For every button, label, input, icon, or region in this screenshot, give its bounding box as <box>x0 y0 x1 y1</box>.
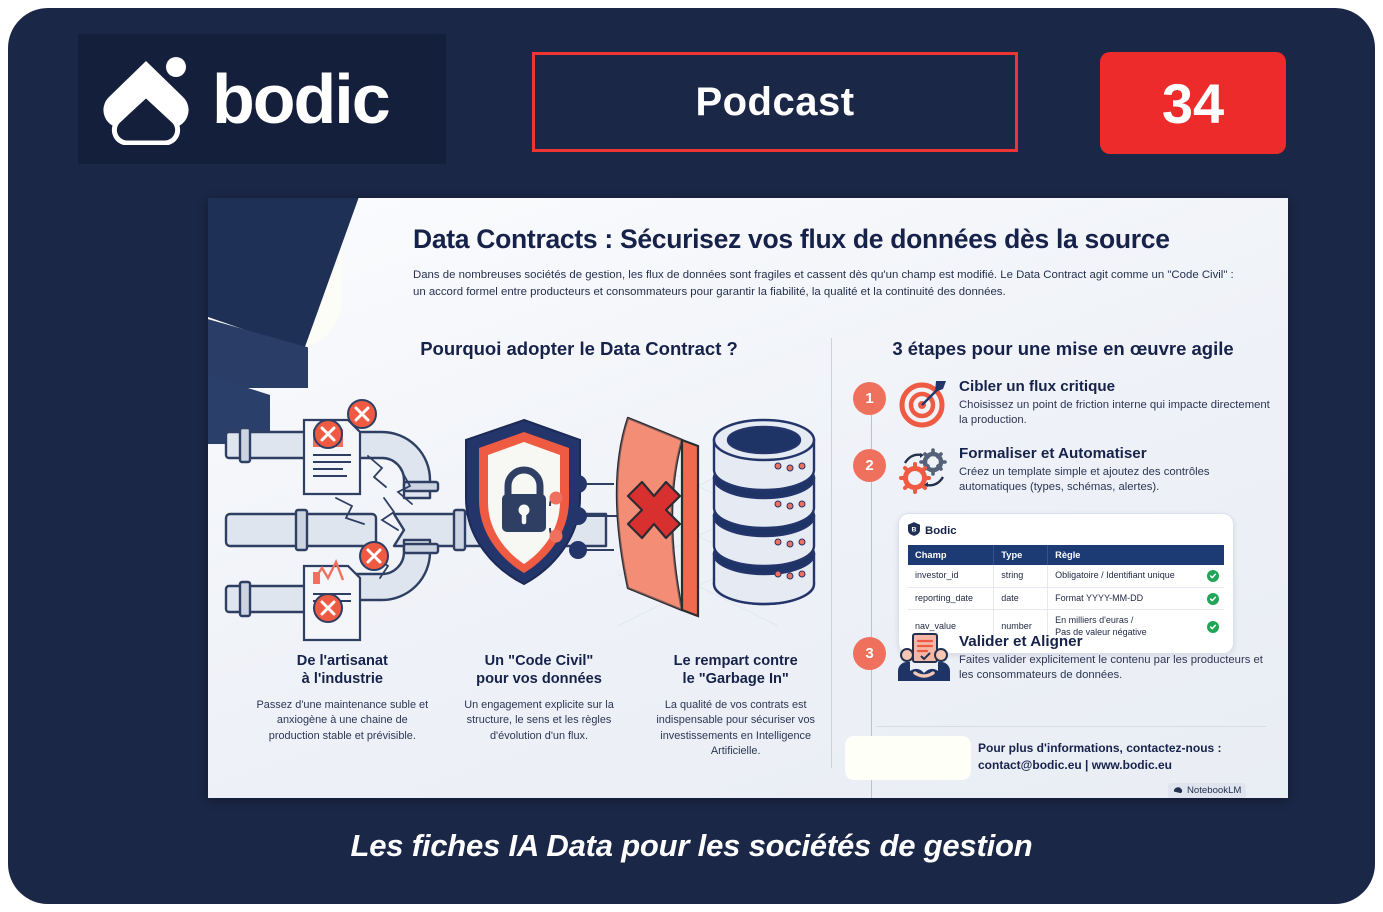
step-text: Valider et Aligner Faites valider explic… <box>953 633 1278 684</box>
benefit-cards: De l'artisanat à l'industrie Passez d'un… <box>248 653 830 760</box>
column-header-type: Type <box>994 545 1048 565</box>
table-row: reporting_date date Format YYYY-MM-DD <box>908 587 1224 610</box>
cell-type: string <box>994 565 1048 587</box>
contract-table: Champ Type Règle investor_id string Obli… <box>908 545 1224 644</box>
cell-regle-text: Format YYYY-MM-DD <box>1055 593 1143 603</box>
contact-block: Pour plus d'informations, contactez-nous… <box>978 740 1278 774</box>
step-text: Formaliser et Automatiser Créez un templ… <box>953 445 1278 496</box>
poster-header: bodic Podcast 34 <box>8 8 1375 188</box>
brand-wordmark: bodic <box>212 64 389 134</box>
cell-champ: reporting_date <box>908 587 994 610</box>
step-body: Choisissez un point de friction interne … <box>959 398 1278 429</box>
target-dart-icon <box>895 378 953 428</box>
column-header-champ: Champ <box>908 545 994 565</box>
page-title: Data Contracts : Sécurisez vos flux de d… <box>413 224 1243 255</box>
column-header-regle: Règle <box>1048 545 1224 565</box>
step-item: 3 <box>848 633 1278 684</box>
benefit-card-title: Le rempart contre le "Garbage In" <box>641 653 830 689</box>
left-column: Pourquoi adopter le Data Contract ? <box>218 338 830 788</box>
step-title: Valider et Aligner <box>959 633 1278 650</box>
gears-automation-icon <box>895 445 953 495</box>
contact-line-2[interactable]: contact@bodic.eu | www.bodic.eu <box>978 757 1278 774</box>
poster-card: bodic Podcast 34 Data Contracts : Sécuri… <box>8 8 1375 904</box>
right-column-heading: 3 étapes pour une mise en œuvre agile <box>848 338 1278 360</box>
step-number: 2 <box>853 449 886 482</box>
left-column-heading: Pourquoi adopter le Data Contract ? <box>218 338 830 360</box>
footer-divider <box>876 726 1266 727</box>
shield-badge-icon: B <box>908 522 920 539</box>
benefit-card-body: La qualité de vos contrats est indispens… <box>641 698 830 760</box>
step-title: Cibler un flux critique <box>959 378 1278 395</box>
cell-regle: Obligatoire / Identifiant unique <box>1048 565 1224 587</box>
step-number: 1 <box>853 382 886 415</box>
step-number-badge: 2 <box>848 445 895 496</box>
column-divider <box>831 338 832 768</box>
cloud-mountain-logo-icon <box>100 53 192 145</box>
step-body: Faites valider explicitement le contenu … <box>959 653 1278 684</box>
podcast-label-chip[interactable]: Podcast <box>532 52 1018 152</box>
episode-number-badge: 34 <box>1100 52 1286 154</box>
cell-regle: Format YYYY-MM-DD <box>1048 587 1224 610</box>
brand-logo-block: bodic <box>78 34 446 164</box>
step-title: Formaliser et Automatiser <box>959 445 1278 462</box>
table-brand: B Bodic <box>908 522 1224 539</box>
benefit-card: De l'artisanat à l'industrie Passez d'un… <box>248 653 437 760</box>
right-column: 3 étapes pour une mise en œuvre agile 1 <box>848 338 1278 788</box>
footer-blank-box <box>845 736 971 780</box>
step-number-badge: 1 <box>848 378 895 429</box>
step-text: Cibler un flux critique Choisissez un po… <box>953 378 1278 429</box>
handshake-document-icon <box>895 633 953 683</box>
step-item: 1 Cibler un flux critique Choisissez un … <box>848 378 1278 429</box>
cell-type: date <box>994 587 1048 610</box>
podcast-label: Podcast <box>695 80 854 125</box>
check-icon <box>1207 593 1219 605</box>
table-row: investor_id string Obligatoire / Identif… <box>908 565 1224 587</box>
infographic-sheet: Data Contracts : Sécurisez vos flux de d… <box>208 198 1288 798</box>
step-number-badge: 3 <box>848 633 895 684</box>
benefit-card-title: De l'artisanat à l'industrie <box>248 653 437 689</box>
svg-text:B: B <box>912 527 917 534</box>
check-icon <box>1207 621 1219 633</box>
benefit-card-body: Passez d'une maintenance suble et anxiog… <box>248 698 437 744</box>
benefit-card: Un "Code Civil" pour vos données Un enga… <box>445 653 634 760</box>
benefit-card-body: Un engagement explicite sur la structure… <box>445 698 634 744</box>
table-brand-label: Bodic <box>925 525 957 537</box>
poster-tagline: Les fiches IA Data pour les sociétés de … <box>8 828 1375 864</box>
step-number: 3 <box>853 637 886 670</box>
step-body: Créez un template simple et ajoutez des … <box>959 465 1278 496</box>
episode-number: 34 <box>1162 71 1224 136</box>
contact-line-1: Pour plus d'informations, contactez-nous… <box>978 740 1278 757</box>
notebooklm-label: NotebookLM <box>1187 785 1241 796</box>
intro-paragraph: Dans de nombreuses sociétés de gestion, … <box>413 267 1243 301</box>
notebooklm-icon <box>1173 784 1183 797</box>
step-item: 2 <box>848 445 1278 496</box>
check-icon <box>1207 570 1219 582</box>
sheet-header: Data Contracts : Sécurisez vos flux de d… <box>413 224 1243 301</box>
table-header-row: Champ Type Règle <box>908 545 1224 565</box>
pipeline-illustration <box>218 386 830 646</box>
benefit-card: Le rempart contre le "Garbage In" La qua… <box>641 653 830 760</box>
cell-regle-text: Obligatoire / Identifiant unique <box>1055 570 1175 580</box>
cell-champ: investor_id <box>908 565 994 587</box>
notebooklm-watermark: NotebookLM <box>1168 783 1246 798</box>
benefit-card-title: Un "Code Civil" pour vos données <box>445 653 634 689</box>
